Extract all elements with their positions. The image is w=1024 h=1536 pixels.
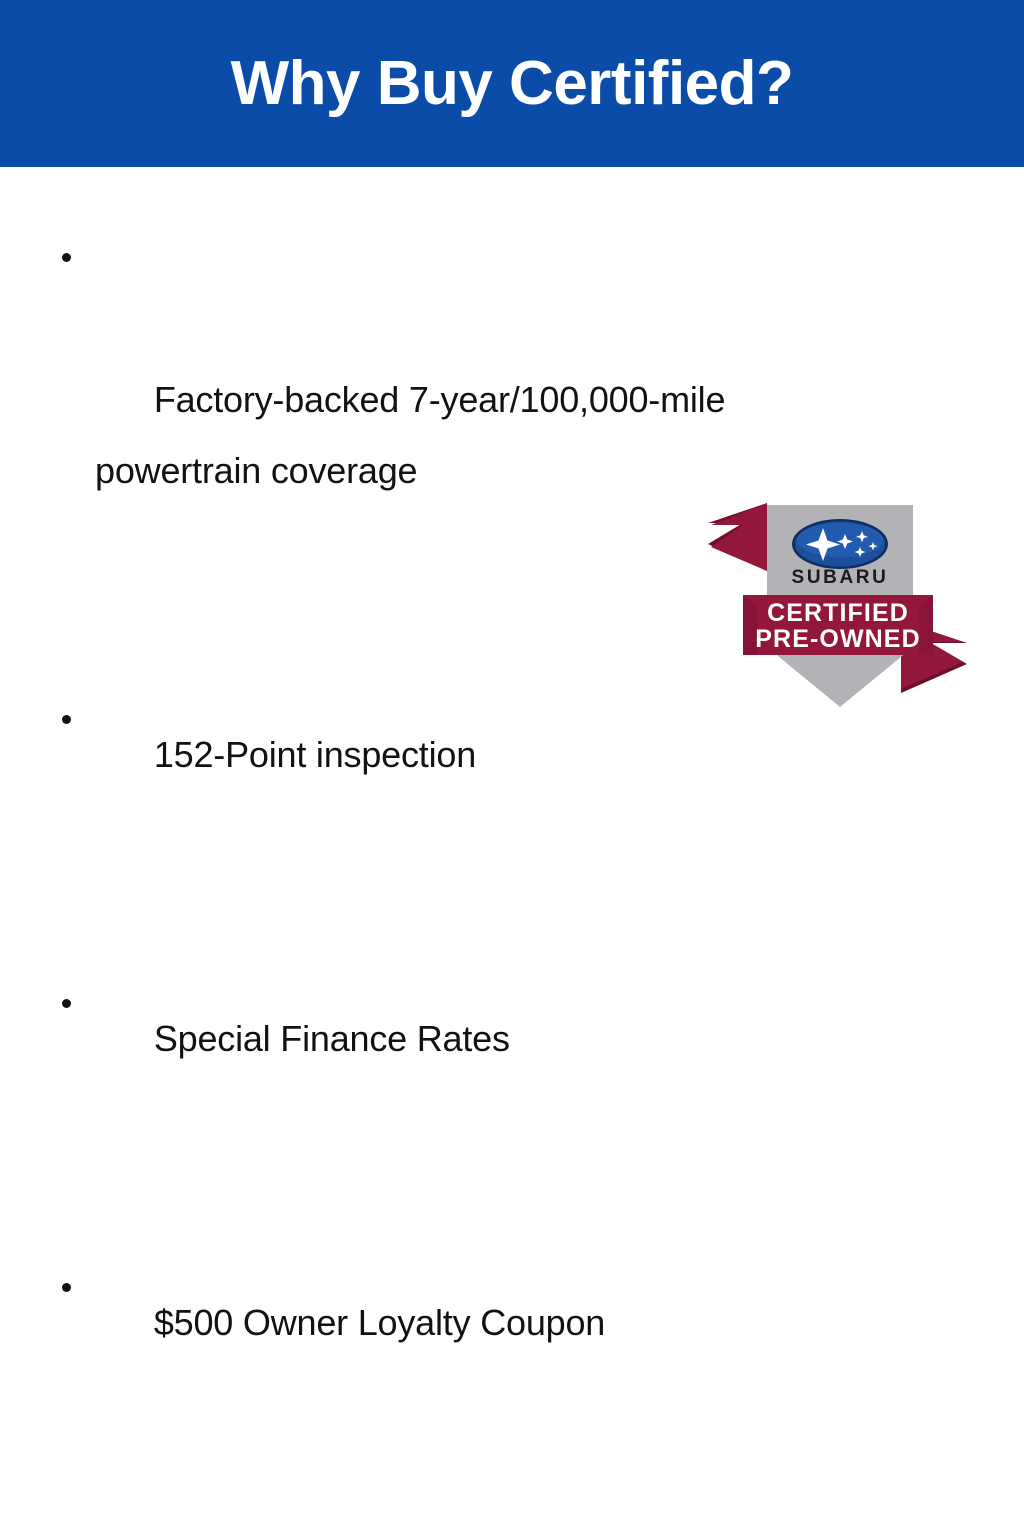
badge-banner-line-2: PRE-OWNED bbox=[755, 625, 920, 653]
bullet-dot-icon bbox=[62, 715, 71, 724]
list-item: 24/7 Roadside Assistance bbox=[48, 1429, 848, 1536]
badge-banner-line-1: CERTIFIED bbox=[767, 599, 909, 627]
page-title: Why Buy Certified? bbox=[231, 53, 794, 115]
subaru-wordmark-text: SUBARU bbox=[792, 567, 889, 588]
ribbon-tail-left-icon bbox=[708, 503, 767, 571]
bullet-dot-icon bbox=[62, 999, 71, 1008]
bullet-dot-icon bbox=[62, 253, 71, 262]
list-item: $500 Owner Loyalty Coupon bbox=[48, 1145, 848, 1429]
header-banner: Why Buy Certified? bbox=[0, 0, 1024, 167]
list-item-label: Special Finance Rates bbox=[154, 1018, 510, 1059]
benefits-list: Factory-backed 7-year/100,000-mile power… bbox=[48, 222, 848, 1536]
list-item-label: $500 Owner Loyalty Coupon bbox=[154, 1302, 605, 1343]
bullet-dot-icon bbox=[62, 1283, 71, 1292]
list-item: Special Finance Rates bbox=[48, 861, 848, 1145]
content-area: Factory-backed 7-year/100,000-mile power… bbox=[0, 167, 1024, 768]
list-item-label: Factory-backed 7-year/100,000-mile power… bbox=[95, 379, 735, 491]
subaru-logo-icon bbox=[792, 519, 888, 569]
list-item-label: 152-Point inspection bbox=[154, 734, 476, 775]
subaru-certified-pre-owned-badge: SUBARU CERTIFIED PRE-OWNED bbox=[705, 497, 970, 712]
